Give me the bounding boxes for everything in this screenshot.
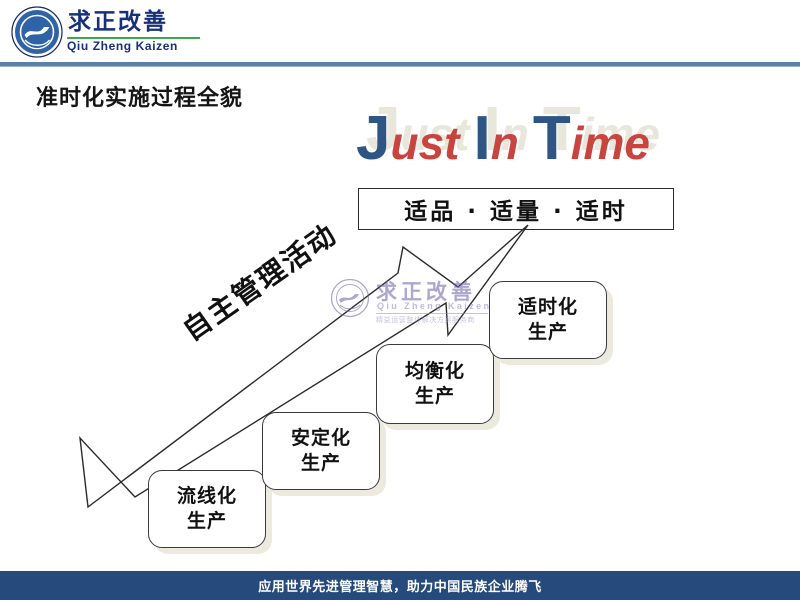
jit-tenet-box: 适品 · 适量 · 适时	[358, 188, 674, 230]
watermark-tagline: 精益运营整体解决方案服务商	[376, 315, 475, 325]
step-label: 流线化 生产	[177, 484, 237, 534]
slide-canvas: 求正改善 Qiu Zheng Kaizen 准时化实施过程全貌 JustInTi…	[0, 0, 800, 600]
step-box-liuxianhua[interactable]: 流线化 生产	[148, 470, 266, 548]
step-label: 安定化 生产	[291, 426, 351, 476]
wordmark-main-layer: JustInTime	[356, 100, 706, 178]
slide-footer: 应用世界先进管理智慧，助力中国民族企业腾飞	[0, 571, 800, 600]
step-label: 均衡化 生产	[405, 359, 465, 409]
qiuzheng-circular-emblem-icon	[11, 6, 63, 58]
brand-name-en: Qiu Zheng Kaizen	[67, 39, 178, 53]
just-in-time-wordmark: JustInTime JustInTime	[356, 100, 706, 178]
footer-slogan: 应用世界先进管理智慧，助力中国民族企业腾飞	[258, 576, 542, 595]
watermark-divider	[376, 313, 488, 314]
step-label: 适时化 生产	[518, 295, 578, 345]
wordmark-t: T	[533, 104, 571, 173]
qiuzheng-watermark: 求正改善 Qiu Zheng Kaizen 精益运营整体解决方案服务商	[330, 272, 490, 334]
brand-name-zh: 求正改善	[68, 9, 168, 35]
page-title: 准时化实施过程全貌	[36, 80, 243, 112]
wordmark-i: I	[473, 104, 490, 173]
step-box-junhenghua[interactable]: 均衡化 生产	[376, 344, 494, 424]
watermark-brand-en: Qiu Zheng Kaizen	[377, 301, 491, 311]
slide-header: 求正改善 Qiu Zheng Kaizen	[0, 0, 800, 62]
step-box-shishihua[interactable]: 适时化 生产	[489, 281, 607, 359]
step-box-andinghua[interactable]: 安定化 生产	[262, 412, 380, 490]
jit-tenet-label: 适品 · 适量 · 适时	[404, 192, 628, 226]
wordmark-ime: ime	[571, 117, 650, 169]
wordmark-ust: ust	[390, 117, 459, 169]
qiuzheng-watermark-icon	[330, 278, 370, 318]
wordmark-j: J	[356, 104, 390, 173]
header-divider	[0, 62, 800, 67]
wordmark-n: n	[491, 117, 519, 169]
